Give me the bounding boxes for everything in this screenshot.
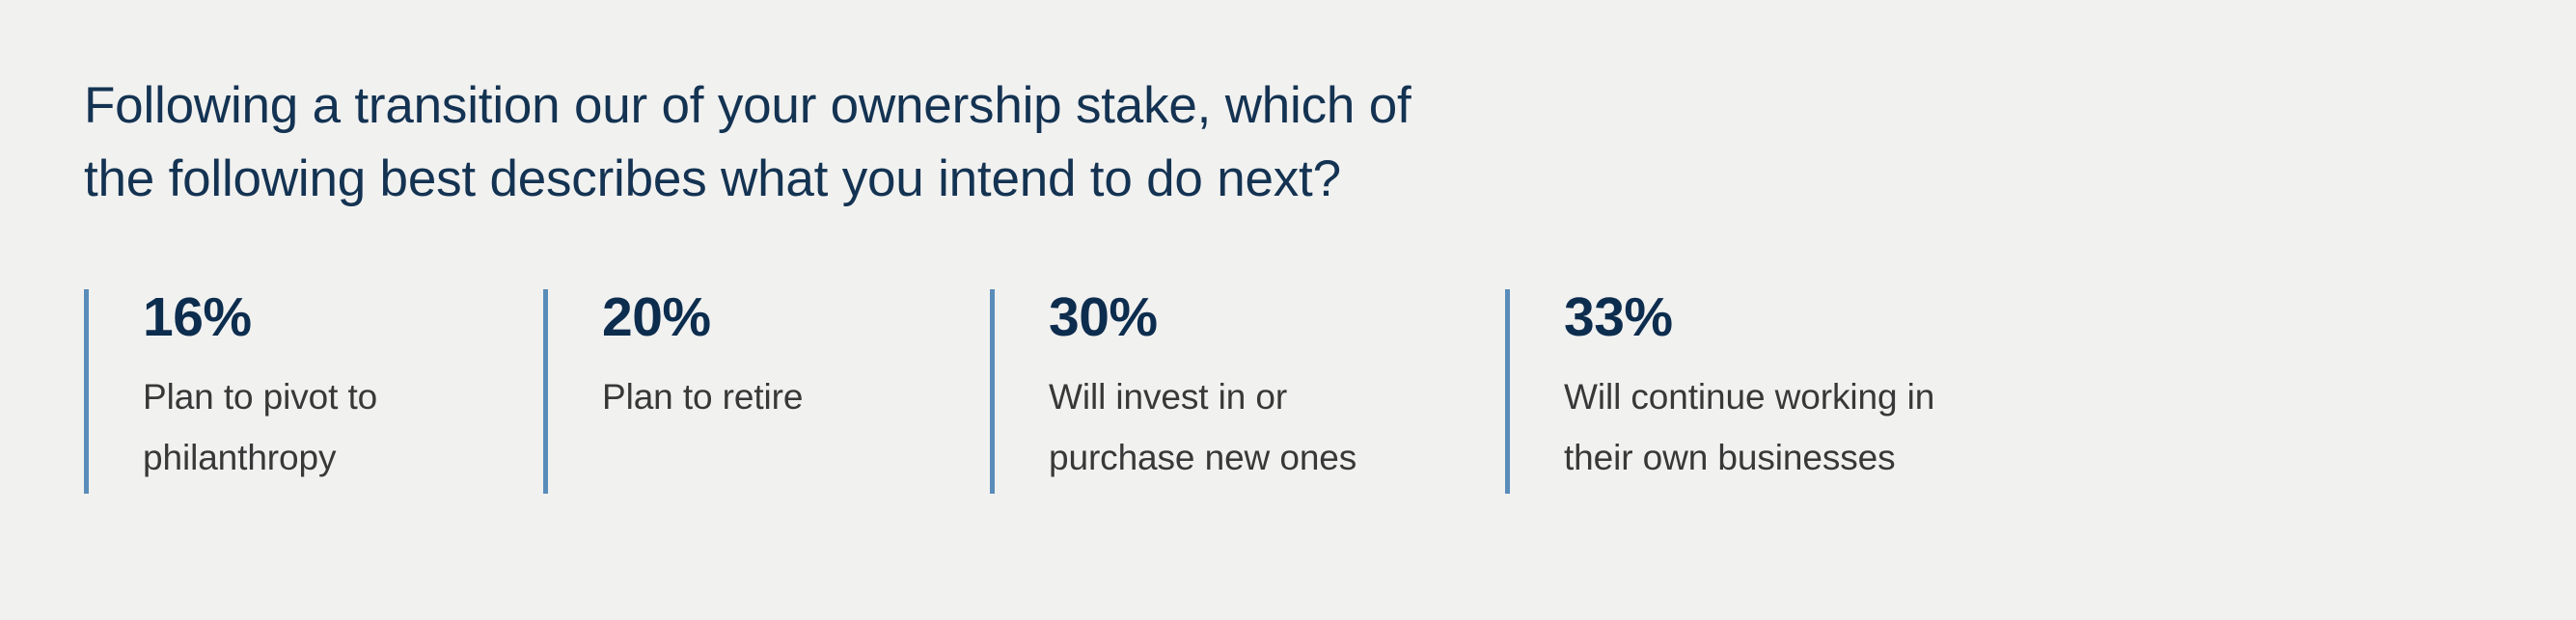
stat-block-invest: 30% Will invest in or purchase new ones (990, 289, 1505, 494)
stat-block-retire: 20% Plan to retire (543, 289, 990, 494)
stat-body: 16% Plan to pivot to philanthropy (89, 289, 377, 494)
stat-label: Will invest in or purchase new ones (1049, 366, 1357, 488)
stat-body: 20% Plan to retire (548, 289, 803, 494)
stats-row: 16% Plan to pivot to philanthropy 20% Pl… (84, 289, 2045, 494)
stat-value: 33% (1564, 289, 1934, 345)
stat-value: 30% (1049, 289, 1357, 345)
stat-label: Plan to retire (602, 366, 803, 427)
stat-body: 33% Will continue working in their own b… (1510, 289, 1934, 494)
stat-block-continue-working: 33% Will continue working in their own b… (1505, 289, 2045, 494)
stat-label: Will continue working in their own busin… (1564, 366, 1934, 488)
stat-block-philanthropy: 16% Plan to pivot to philanthropy (84, 289, 543, 494)
stat-value: 16% (143, 289, 377, 345)
infographic-panel: Following a transition our of your owner… (0, 0, 2576, 620)
stat-body: 30% Will invest in or purchase new ones (995, 289, 1357, 494)
stat-value: 20% (602, 289, 803, 345)
page-title: Following a transition our of your owner… (84, 69, 1724, 216)
stat-label: Plan to pivot to philanthropy (143, 366, 377, 488)
